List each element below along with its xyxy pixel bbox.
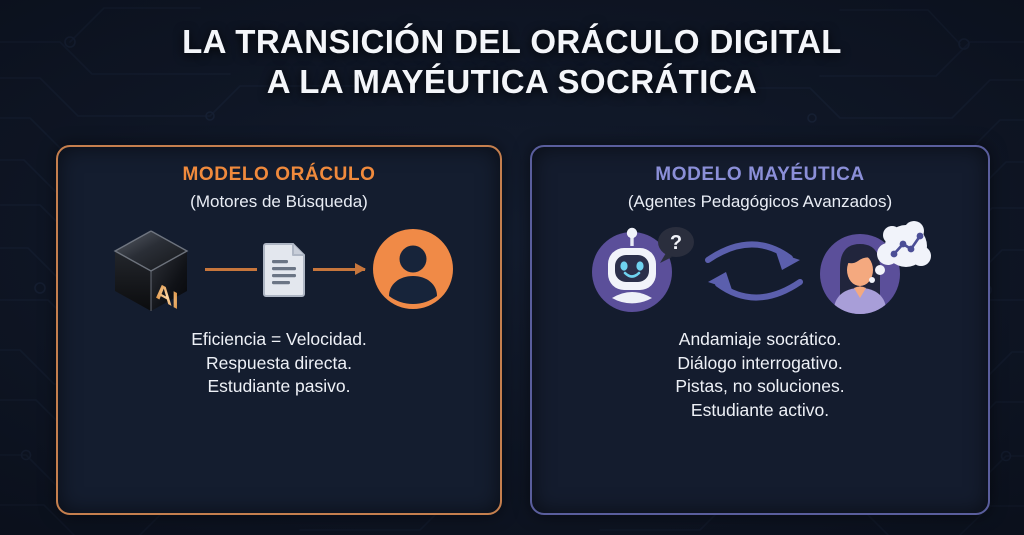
- document-icon: [263, 241, 307, 297]
- left-panel-title: MODELO ORÁCULO: [58, 163, 500, 187]
- right-panel-subtitle: (Agentes Pedagógicos Avanzados): [532, 190, 988, 214]
- question-bubble-icon: ?: [658, 227, 694, 263]
- left-bullet-1: Eficiencia = Velocidad.: [58, 328, 500, 352]
- left-panel-header: MODELO ORÁCULO (Motores de Búsqueda): [58, 147, 500, 214]
- title-line-1: LA TRANSICIÓN DEL ORÁCULO DIGITAL: [0, 22, 1024, 62]
- student-avatar-icon: [810, 220, 934, 320]
- arrow-document-to-user: [313, 268, 365, 271]
- right-panel-bullets: Andamiaje socrático. Diálogo interrogati…: [532, 328, 988, 422]
- left-bullet-2: Respuesta directa.: [58, 352, 500, 376]
- right-bullet-3: Pistas, no soluciones.: [532, 375, 988, 399]
- panel-modelo-oraculo: MODELO ORÁCULO (Motores de Búsqueda): [56, 145, 502, 515]
- right-panel-title: MODELO MAYÉUTICA: [532, 163, 988, 187]
- page-title: LA TRANSICIÓN DEL ORÁCULO DIGITAL A LA M…: [0, 22, 1024, 102]
- infographic-canvas: LA TRANSICIÓN DEL ORÁCULO DIGITAL A LA M…: [0, 0, 1024, 535]
- arrow-cube-to-document: [205, 268, 257, 271]
- robot-avatar-icon: ?: [586, 222, 698, 318]
- right-bullet-1: Andamiaje socrático.: [532, 328, 988, 352]
- right-panel-header: MODELO MAYÉUTICA (Agentes Pedagógicos Av…: [532, 147, 988, 214]
- bidirectional-arrows-icon: [702, 236, 806, 304]
- oracle-flow-illustration: AI: [58, 214, 500, 324]
- user-avatar-icon: [371, 227, 455, 311]
- maieutic-dialogue-illustration: ?: [532, 214, 988, 326]
- panel-modelo-mayeutica: MODELO MAYÉUTICA (Agentes Pedagógicos Av…: [530, 145, 990, 515]
- ai-cube-icon: AI: [103, 221, 199, 317]
- left-panel-subtitle: (Motores de Búsqueda): [58, 190, 500, 214]
- title-line-2: A LA MAYÉUTICA SOCRÁTICA: [0, 62, 1024, 102]
- left-bullet-3: Estudiante pasivo.: [58, 375, 500, 399]
- right-bullet-4: Estudiante activo.: [532, 399, 988, 423]
- left-panel-bullets: Eficiencia = Velocidad. Respuesta direct…: [58, 328, 500, 399]
- svg-text:?: ?: [670, 232, 682, 254]
- thought-bubble-chart-icon: [869, 221, 931, 283]
- right-bullet-2: Diálogo interrogativo.: [532, 352, 988, 376]
